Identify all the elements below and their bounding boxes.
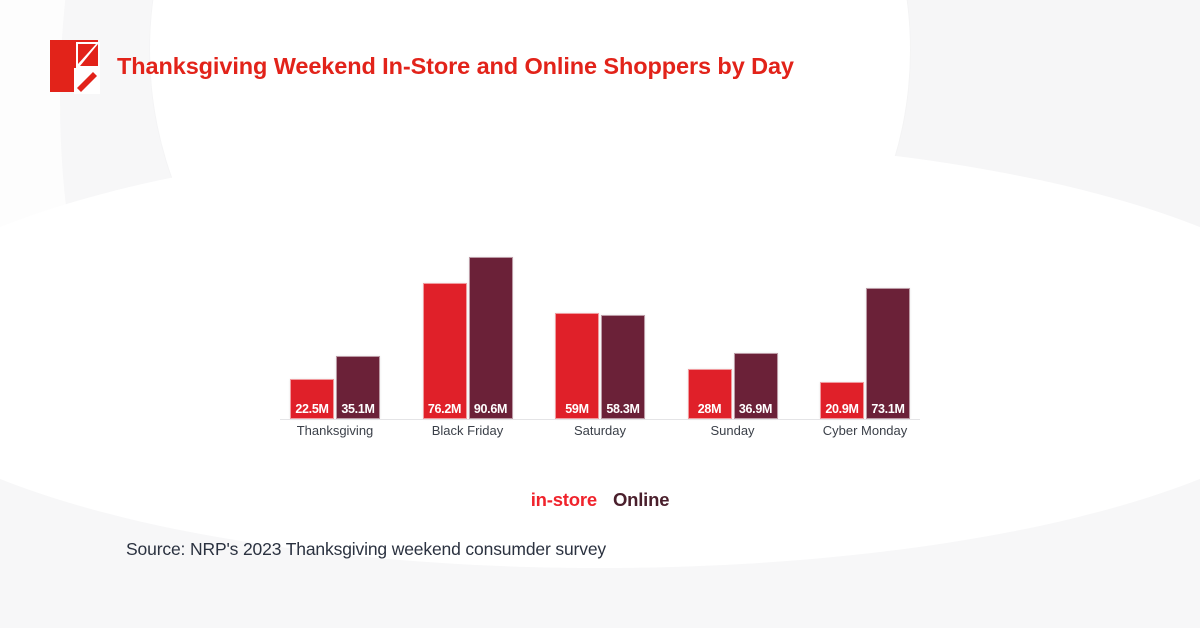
bar-in-store[interactable]: 28M [688, 369, 732, 419]
bar-value-label: 28M [689, 403, 731, 416]
bar-value-label: 22.5M [291, 403, 333, 416]
bar-in-store[interactable]: 20.9M [820, 382, 864, 419]
legend-item-in-store[interactable]: in-store [531, 489, 597, 511]
bar-value-label: 58.3M [602, 403, 644, 416]
bar-value-label: 59M [556, 403, 598, 416]
x-axis-labels: ThanksgivingBlack FridaySaturdaySundayCy… [280, 423, 920, 438]
legend-item-online[interactable]: Online [613, 489, 669, 511]
source-note: Source: NRP's 2023 Thanksgiving weekend … [126, 539, 606, 560]
x-axis-label: Black Friday [423, 423, 513, 438]
chart-legend: in-storeOnline [0, 489, 1200, 511]
x-axis-line [280, 419, 920, 420]
bar-group: 22.5M35.1M [290, 356, 380, 419]
header: Thanksgiving Weekend In-Store and Online… [48, 38, 794, 94]
bar-group: 28M36.9M [688, 353, 778, 419]
infographic-page: Thanksgiving Weekend In-Store and Online… [0, 0, 1200, 628]
bar-value-label: 73.1M [867, 403, 909, 416]
bar-online[interactable]: 36.9M [734, 353, 778, 419]
bar-group: 59M58.3M [555, 313, 645, 419]
bar-chart: 22.5M35.1M76.2M90.6M59M58.3M28M36.9M20.9… [280, 236, 920, 422]
bar-online[interactable]: 73.1M [866, 288, 910, 419]
x-axis-label: Saturday [555, 423, 645, 438]
chart-plot-area: 22.5M35.1M76.2M90.6M59M58.3M28M36.9M20.9… [280, 236, 920, 419]
bar-value-label: 35.1M [337, 403, 379, 416]
bar-in-store[interactable]: 22.5M [290, 379, 334, 419]
bar-group: 20.9M73.1M [820, 288, 910, 419]
bar-online[interactable]: 90.6M [469, 257, 513, 419]
bar-value-label: 90.6M [470, 403, 512, 416]
bar-value-label: 36.9M [735, 403, 777, 416]
bar-online[interactable]: 35.1M [336, 356, 380, 419]
bar-value-label: 76.2M [424, 403, 466, 416]
x-axis-label: Cyber Monday [820, 423, 910, 438]
brand-logo-icon [48, 38, 100, 94]
bar-value-label: 20.9M [821, 403, 863, 416]
bar-online[interactable]: 58.3M [601, 315, 645, 419]
x-axis-label: Sunday [688, 423, 778, 438]
bar-group: 76.2M90.6M [423, 257, 513, 419]
bar-in-store[interactable]: 76.2M [423, 283, 467, 419]
bar-in-store[interactable]: 59M [555, 313, 599, 419]
page-title: Thanksgiving Weekend In-Store and Online… [117, 53, 794, 80]
x-axis-label: Thanksgiving [290, 423, 380, 438]
